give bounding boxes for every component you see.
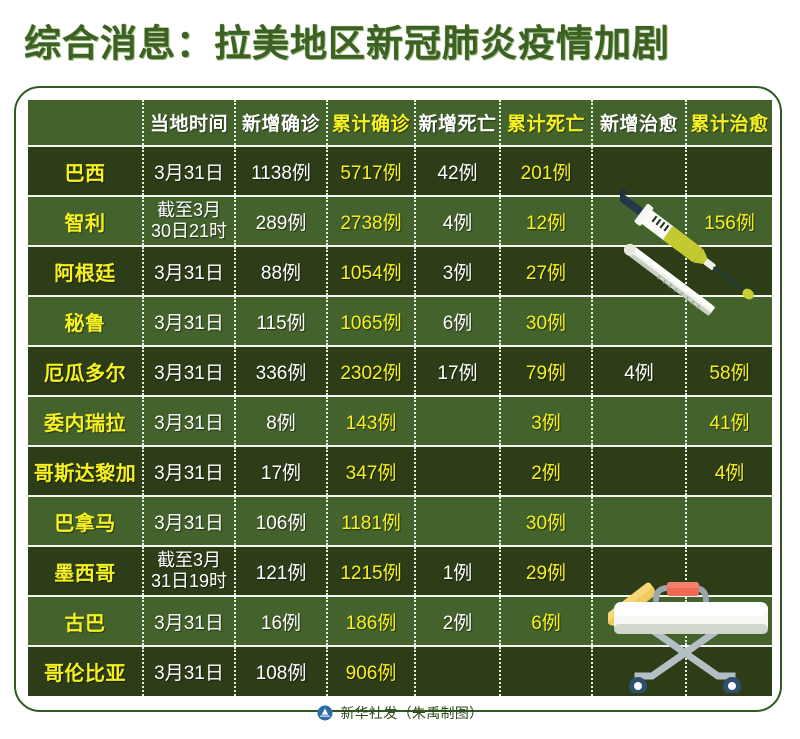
cell-total-confirmed: 1054例	[327, 246, 415, 296]
cell-total-recovered	[686, 246, 772, 296]
cell-new-recovered	[592, 496, 686, 546]
cell-total-deaths	[500, 646, 592, 696]
cell-country: 哥斯达黎加	[28, 446, 143, 496]
table-header-row: 当地时间 新增确诊 累计确诊 新增死亡 累计死亡 新增治愈 累计治愈	[28, 100, 772, 146]
table-row: 委内瑞拉3月31日8例143例3例41例	[28, 396, 772, 446]
cell-new-confirmed: 17例	[235, 446, 327, 496]
cell-total-deaths: 6例	[500, 596, 592, 646]
cell-total-confirmed: 347例	[327, 446, 415, 496]
table-row: 秘鲁3月31日115例1065例6例30例	[28, 296, 772, 346]
column-header-country	[28, 100, 143, 146]
cell-local-time: 截至3月30日21时	[143, 196, 235, 246]
cell-total-deaths: 30例	[500, 496, 592, 546]
cell-new-deaths	[415, 496, 500, 546]
cell-new-deaths: 2例	[415, 596, 500, 646]
cell-local-time: 3月31日	[143, 596, 235, 646]
table-row: 阿根廷3月31日88例1054例3例27例	[28, 246, 772, 296]
cell-line: 31日19时	[146, 571, 232, 592]
cell-new-recovered	[592, 396, 686, 446]
cell-country: 厄瓜多尔	[28, 346, 143, 396]
cell-total-confirmed: 1065例	[327, 296, 415, 346]
cell-country: 哥伦比亚	[28, 646, 143, 696]
cell-total-recovered: 41例	[686, 396, 772, 446]
cell-total-recovered	[686, 496, 772, 546]
cell-total-confirmed: 906例	[327, 646, 415, 696]
cell-local-time: 3月31日	[143, 146, 235, 196]
cell-total-confirmed: 2302例	[327, 346, 415, 396]
cell-new-confirmed: 88例	[235, 246, 327, 296]
cell-new-confirmed: 121例	[235, 546, 327, 596]
cell-new-confirmed: 289例	[235, 196, 327, 246]
cell-total-deaths: 29例	[500, 546, 592, 596]
table-row: 古巴3月31日16例186例2例6例	[28, 596, 772, 646]
cell-total-recovered: 156例	[686, 196, 772, 246]
page-title: 综合消息：拉美地区新冠肺炎疫情加剧	[24, 22, 670, 66]
cell-new-confirmed: 336例	[235, 346, 327, 396]
column-header-total-deaths: 累计死亡	[500, 100, 592, 146]
cell-total-recovered: 58例	[686, 346, 772, 396]
cell-total-deaths: 201例	[500, 146, 592, 196]
column-header-new-confirmed: 新增确诊	[235, 100, 327, 146]
cell-new-recovered	[592, 146, 686, 196]
cell-new-confirmed: 115例	[235, 296, 327, 346]
cell-total-recovered	[686, 546, 772, 596]
cell-local-time: 3月31日	[143, 646, 235, 696]
cell-line: 截至3月	[146, 550, 232, 571]
cell-local-time: 3月31日	[143, 396, 235, 446]
cell-local-time: 3月31日	[143, 496, 235, 546]
table-row: 厄瓜多尔3月31日336例2302例17例79例4例58例	[28, 346, 772, 396]
table-row: 墨西哥截至3月31日19时121例1215例1例29例	[28, 546, 772, 596]
cell-country: 智利	[28, 196, 143, 246]
cell-new-deaths: 4例	[415, 196, 500, 246]
covid-statistics-table: 当地时间 新增确诊 累计确诊 新增死亡 累计死亡 新增治愈 累计治愈 巴西3月3…	[28, 100, 772, 696]
cell-total-recovered: 4例	[686, 446, 772, 496]
cell-new-deaths: 3例	[415, 246, 500, 296]
cell-local-time: 截至3月31日19时	[143, 546, 235, 596]
cell-new-deaths: 1例	[415, 546, 500, 596]
cell-line: 截至3月	[146, 200, 232, 221]
cell-total-recovered	[686, 646, 772, 696]
cell-new-confirmed: 108例	[235, 646, 327, 696]
column-header-total-recovered: 累计治愈	[686, 100, 772, 146]
cell-local-time: 3月31日	[143, 446, 235, 496]
cell-total-recovered	[686, 596, 772, 646]
cell-new-deaths	[415, 396, 500, 446]
cell-country: 墨西哥	[28, 546, 143, 596]
table-row: 巴西3月31日1138例5717例42例201例	[28, 146, 772, 196]
cell-local-time: 3月31日	[143, 246, 235, 296]
cell-total-deaths: 3例	[500, 396, 592, 446]
table-body: 巴西3月31日1138例5717例42例201例智利截至3月30日21时289例…	[28, 146, 772, 696]
cell-total-recovered	[686, 146, 772, 196]
cell-country: 巴拿马	[28, 496, 143, 546]
table-row: 智利截至3月30日21时289例2738例4例12例156例	[28, 196, 772, 246]
cell-new-recovered: 4例	[592, 346, 686, 396]
cell-new-confirmed: 1138例	[235, 146, 327, 196]
cell-country: 秘鲁	[28, 296, 143, 346]
cell-new-deaths	[415, 646, 500, 696]
cell-local-time: 3月31日	[143, 296, 235, 346]
cell-new-recovered	[592, 546, 686, 596]
table-row: 哥伦比亚3月31日108例906例	[28, 646, 772, 696]
cell-new-recovered	[592, 646, 686, 696]
cell-new-deaths	[415, 446, 500, 496]
cell-total-confirmed: 186例	[327, 596, 415, 646]
cell-new-confirmed: 16例	[235, 596, 327, 646]
cell-total-deaths: 12例	[500, 196, 592, 246]
cell-total-deaths: 27例	[500, 246, 592, 296]
cell-new-recovered	[592, 596, 686, 646]
cell-country: 古巴	[28, 596, 143, 646]
table-header: 当地时间 新增确诊 累计确诊 新增死亡 累计死亡 新增治愈 累计治愈	[28, 100, 772, 146]
footer-credit: 新华社发（朱禹制图）	[0, 703, 800, 724]
cell-line: 30日21时	[146, 221, 232, 242]
cell-new-deaths: 6例	[415, 296, 500, 346]
cell-total-confirmed: 143例	[327, 396, 415, 446]
cell-new-confirmed: 106例	[235, 496, 327, 546]
column-header-new-recovered: 新增治愈	[592, 100, 686, 146]
cell-country: 委内瑞拉	[28, 396, 143, 446]
cell-total-deaths: 2例	[500, 446, 592, 496]
table-row: 巴拿马3月31日106例1181例30例	[28, 496, 772, 546]
cell-country: 巴西	[28, 146, 143, 196]
cell-new-recovered	[592, 446, 686, 496]
cell-new-recovered	[592, 296, 686, 346]
cell-new-recovered	[592, 196, 686, 246]
cell-country: 阿根廷	[28, 246, 143, 296]
cell-local-time: 3月31日	[143, 346, 235, 396]
column-header-local-time: 当地时间	[143, 100, 235, 146]
cell-total-confirmed: 1215例	[327, 546, 415, 596]
cell-total-confirmed: 2738例	[327, 196, 415, 246]
cell-total-recovered	[686, 296, 772, 346]
cell-total-confirmed: 5717例	[327, 146, 415, 196]
cell-new-deaths: 42例	[415, 146, 500, 196]
covid-table-container: 当地时间 新增确诊 累计确诊 新增死亡 累计死亡 新增治愈 累计治愈 巴西3月3…	[28, 100, 772, 698]
cell-new-recovered	[592, 246, 686, 296]
cell-total-deaths: 30例	[500, 296, 592, 346]
xinhua-circle-logo-icon	[317, 705, 333, 724]
column-header-total-confirmed: 累计确诊	[327, 100, 415, 146]
cell-total-confirmed: 1181例	[327, 496, 415, 546]
cell-new-deaths: 17例	[415, 346, 500, 396]
table-row: 哥斯达黎加3月31日17例347例2例4例	[28, 446, 772, 496]
cell-total-deaths: 79例	[500, 346, 592, 396]
cell-new-confirmed: 8例	[235, 396, 327, 446]
column-header-new-deaths: 新增死亡	[415, 100, 500, 146]
credit-text: 新华社发（朱禹制图）	[340, 703, 483, 723]
